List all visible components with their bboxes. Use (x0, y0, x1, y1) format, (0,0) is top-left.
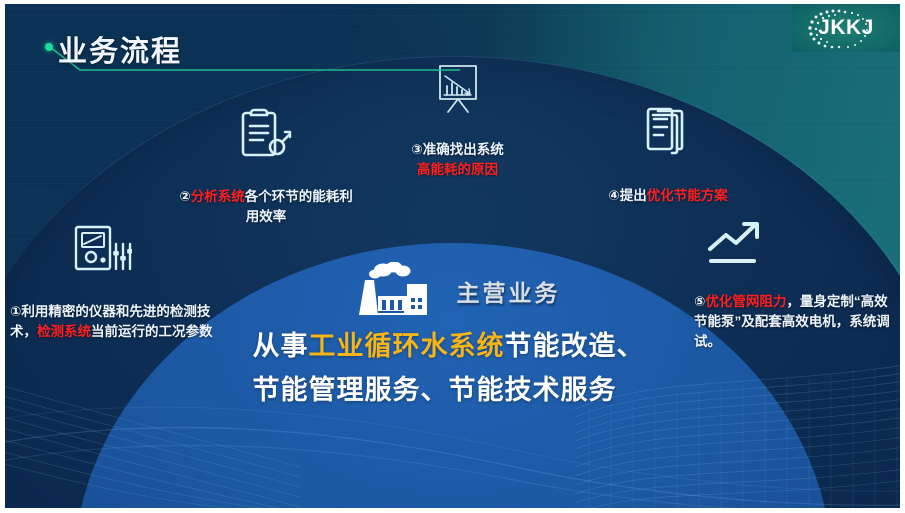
main-business-text-before: 从事 (253, 331, 309, 361)
flow-item-4-text-before: ④提出 (608, 188, 646, 203)
flow-item-3-text-before: ③准确找出系统 (411, 142, 503, 157)
flow-item-3[interactable]: ③准确找出系统高能耗的原因 (370, 62, 545, 180)
brand-logo[interactable]: JKKJ (792, 4, 900, 52)
main-business-text: 从事工业循环水系统节能改造、节能管理服务、节能技术服务 (253, 324, 653, 412)
flow-item-2-text-before: ② (179, 189, 190, 204)
flow-item-3-text-highlight: 高能耗的原因 (417, 162, 498, 177)
slide-frame-left (0, 0, 5, 513)
logo-text: JKKJ (818, 16, 874, 40)
flow-item-4[interactable]: ④提出优化节能方案 (573, 104, 763, 206)
flow-item-4-text-highlight: 优化节能方案 (647, 188, 728, 203)
page-title-text: 业务流程 (58, 28, 182, 70)
slide-frame-bottom (0, 508, 905, 513)
flow-item-2-text-highlight: 分析系统 (191, 189, 245, 204)
clipboard-search-icon (237, 105, 295, 163)
factory-smokestack-icon (345, 262, 443, 320)
slide-frame-right (900, 0, 905, 513)
main-business-header: 主营业务 (0, 260, 905, 322)
flow-item-2-text-after: 各个环节的能耗利用效率 (245, 189, 353, 224)
slide-canvas: JKKJ 业务流程 ①利用精密的仪器和先进的检测 (0, 0, 905, 513)
slide-frame-top (0, 0, 905, 4)
main-business-text-highlight: 工业循环水系统 (309, 331, 505, 361)
flow-item-4-text: ④提出优化节能方案 (573, 166, 763, 206)
title-bullet-dot (45, 43, 53, 51)
flow-item-2[interactable]: ②分析系统各个环节的能耗利用效率 (176, 105, 356, 227)
flow-item-3-text: ③准确找出系统高能耗的原因 (370, 120, 545, 180)
documents-stack-icon (640, 104, 696, 162)
main-business-block: 主营业务 从事工业循环水系统节能改造、节能管理服务、节能技术服务 (0, 260, 905, 412)
main-business-label: 主营业务 (457, 274, 561, 308)
flow-item-2-text: ②分析系统各个环节的能耗利用效率 (176, 167, 356, 227)
